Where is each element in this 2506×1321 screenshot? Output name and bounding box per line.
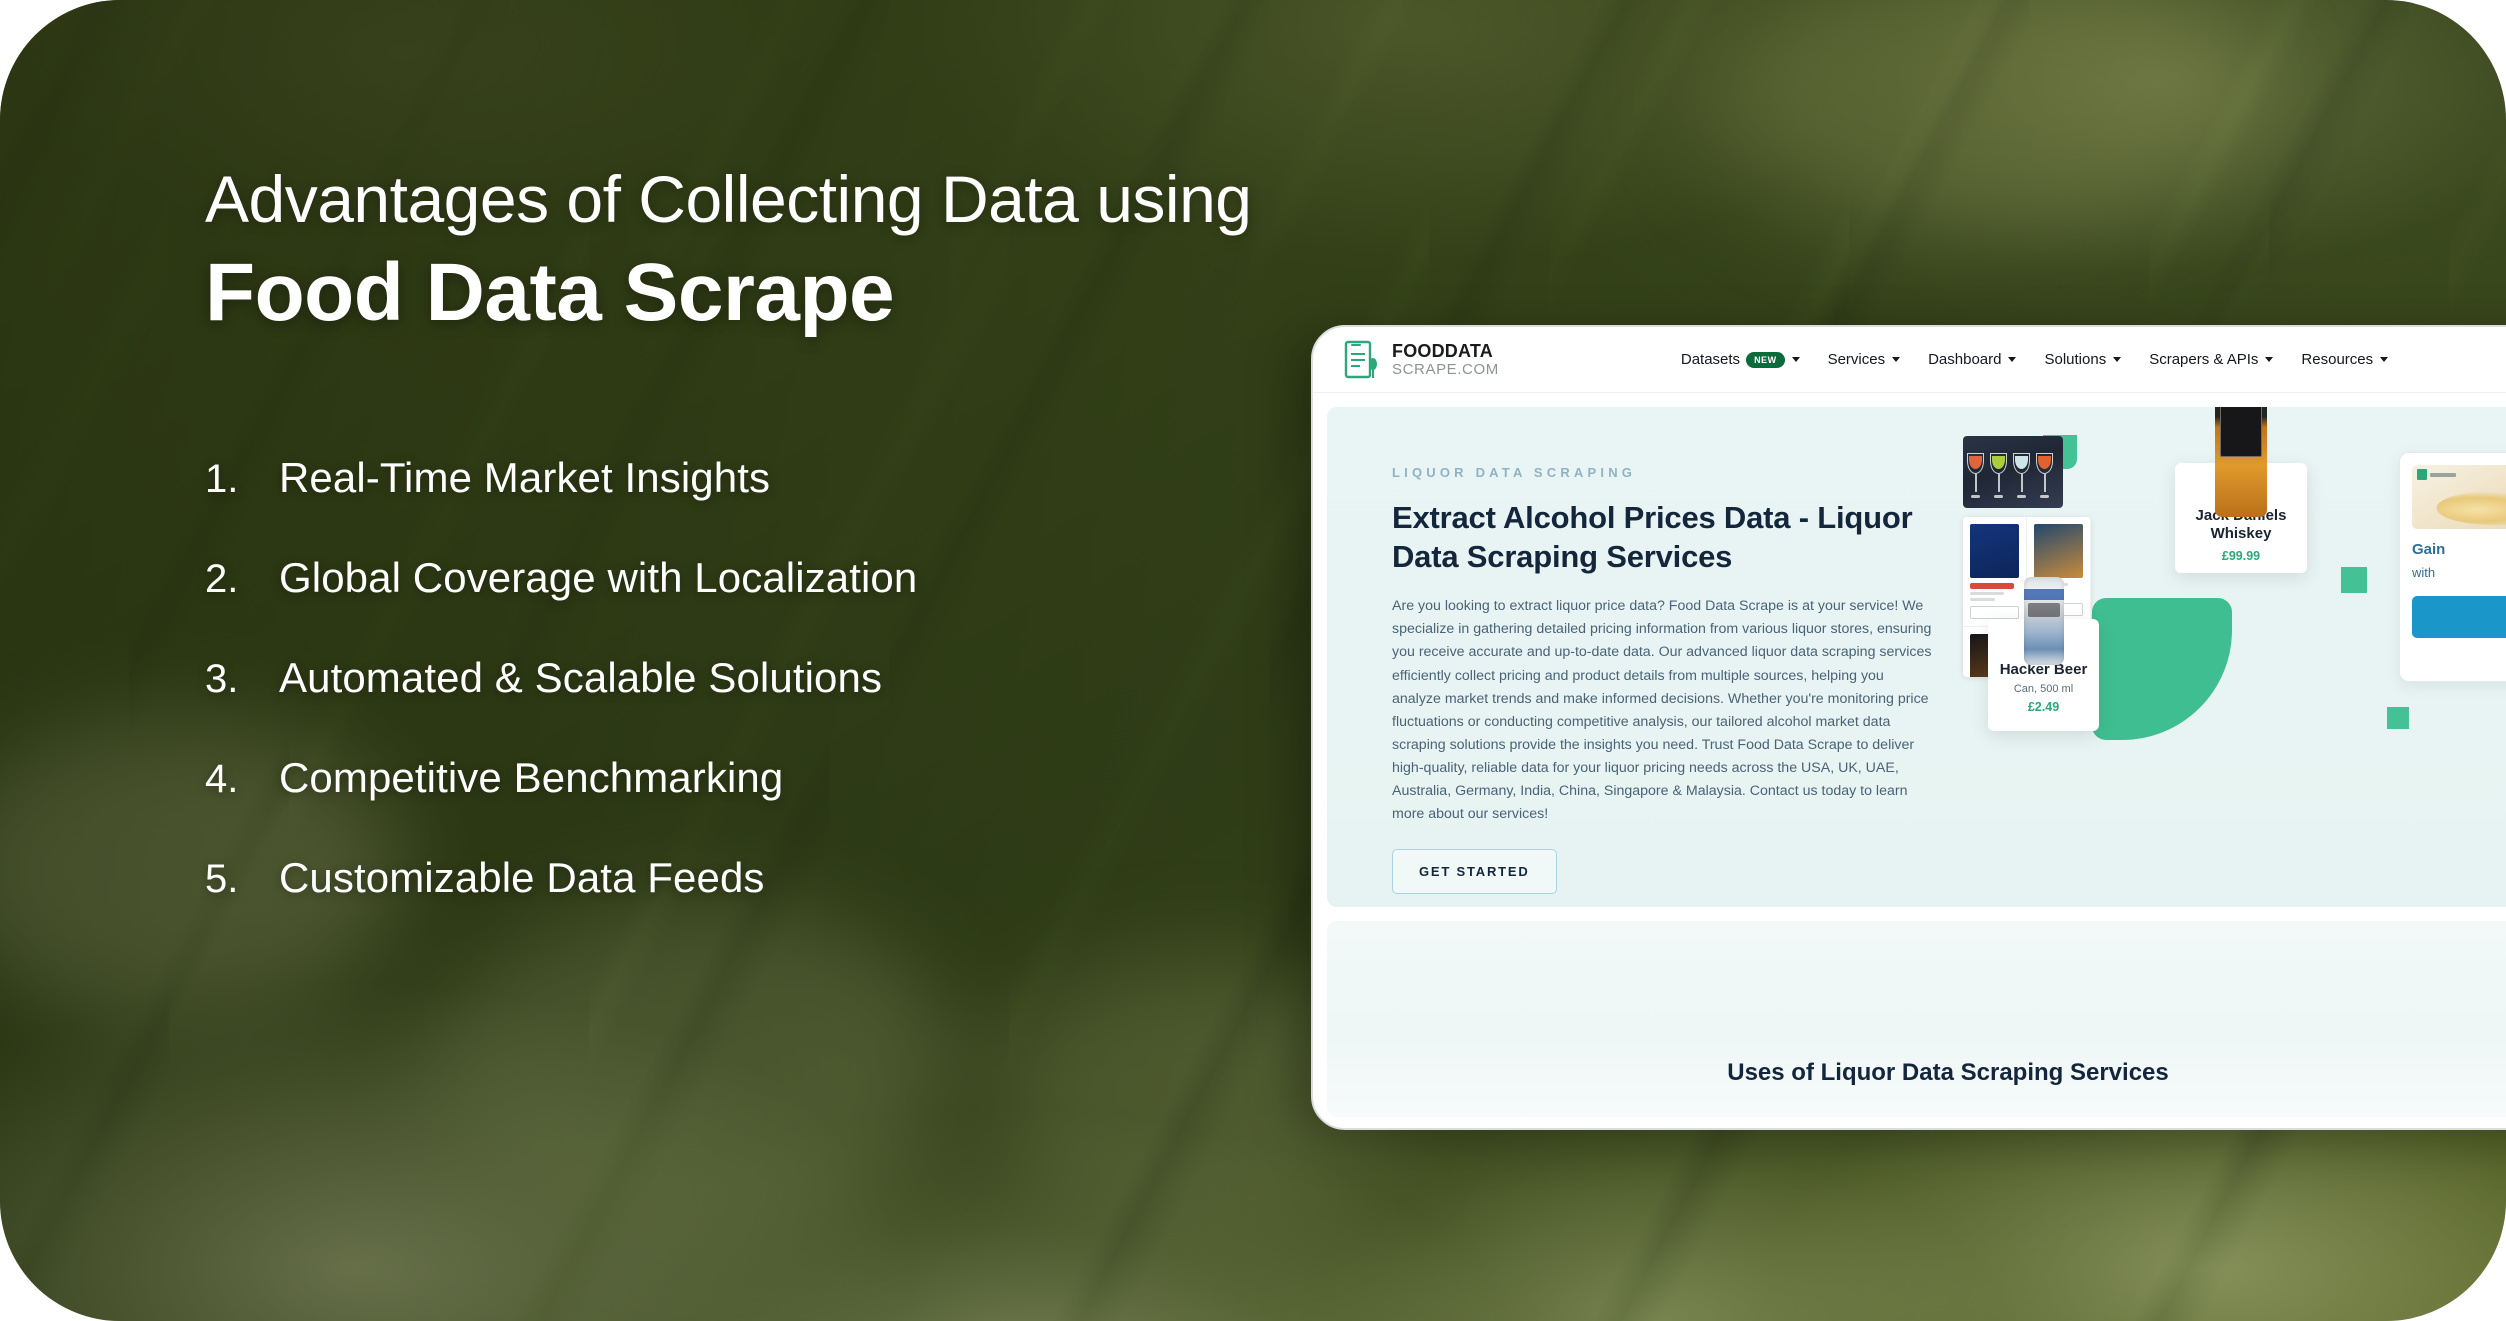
cocktail-glass-icon [2036, 453, 2053, 498]
hero-heading: Extract Alcohol Prices Data - Liquor Dat… [1392, 498, 1937, 576]
nav-item-dashboard[interactable]: Dashboard [1928, 351, 2016, 368]
list-item: 5. Customizable Data Feeds [205, 854, 1315, 902]
promo-bar [1970, 583, 2014, 589]
new-badge: NEW [1746, 352, 1785, 368]
decorative-square [2387, 707, 2409, 729]
nav-item-services[interactable]: Services [1828, 351, 1901, 368]
chevron-down-icon [2113, 357, 2121, 362]
logo-line2: SCRAPE.COM [1392, 362, 1499, 377]
chevron-down-icon [2008, 357, 2016, 362]
beer-can-image [2024, 577, 2064, 665]
site-logo[interactable]: FOODDATA SCRAPE.COM [1343, 340, 1499, 380]
product-thumbnail [2034, 524, 2083, 578]
product-card-whiskey[interactable]: Jack Daniels Whiskey £99.99 [2175, 463, 2307, 573]
list-item-label: Real-Time Market Insights [279, 454, 770, 502]
product-thumbnail [1970, 524, 2019, 578]
cocktail-photo [1963, 436, 2063, 508]
list-item: 4. Competitive Benchmarking [205, 754, 1315, 802]
advantages-list: 1. Real-Time Market Insights 2. Global C… [205, 454, 1315, 902]
promo-cta-button[interactable] [2412, 596, 2506, 638]
hero-eyebrow: LIQUOR DATA SCRAPING [1392, 465, 1937, 480]
slide-root: Advantages of Collecting Data using Food… [0, 0, 2506, 1321]
left-content-column: Advantages of Collecting Data using Food… [205, 165, 1315, 902]
promo-logo [2417, 469, 2456, 480]
website-mockup: FOODDATA SCRAPE.COM Datasets NEW Service… [1311, 325, 2506, 1130]
cocktail-glass-icon [2013, 453, 2030, 498]
list-item-label: Global Coverage with Localization [279, 554, 917, 602]
document-spoon-icon [1343, 340, 1381, 380]
nav-item-label: Scrapers & APIs [2149, 351, 2258, 368]
product-grid-cell [1963, 517, 2027, 627]
hero-text-block: LIQUOR DATA SCRAPING Extract Alcohol Pri… [1392, 465, 1937, 894]
product-subtitle: Can, 500 ml [1996, 683, 2091, 695]
list-item-number: 1. [205, 457, 279, 502]
nav-item-label: Dashboard [1928, 351, 2001, 368]
nav-item-scrapers-and-apis[interactable]: Scrapers & APIs [2149, 351, 2273, 368]
list-item-number: 2. [205, 557, 279, 602]
text-line [1970, 598, 1995, 601]
logo-line1: FOODDATA [1392, 342, 1499, 360]
hero-artwork: Jack Daniels Whiskey £99.99 Hacker Beer … [1959, 407, 2506, 907]
nav-item-label: Services [1828, 351, 1886, 368]
get-started-button[interactable]: GET STARTED [1392, 849, 1557, 894]
nav-menu: Datasets NEW Services Dashboard Solution… [1681, 351, 2388, 368]
logo-wordmark [2430, 473, 2456, 477]
nav-item-datasets[interactable]: Datasets NEW [1681, 351, 1800, 368]
food-photo [2437, 491, 2506, 525]
nav-item-label: Resources [2301, 351, 2373, 368]
list-item-label: Customizable Data Feeds [279, 854, 765, 902]
promo-line1: Gain [2412, 541, 2506, 558]
uses-section-heading: Uses of Liquor Data Scraping Services [1327, 1059, 2506, 1087]
side-promo-card[interactable]: Gain with [2399, 452, 2506, 682]
promo-line2: with [2412, 565, 2506, 580]
decorative-square [2341, 567, 2367, 593]
list-item: 2. Global Coverage with Localization [205, 554, 1315, 602]
list-item: 3. Automated & Scalable Solutions [205, 654, 1315, 702]
nav-item-solutions[interactable]: Solutions [2044, 351, 2121, 368]
list-item-number: 4. [205, 757, 279, 802]
add-to-cart-button[interactable] [1970, 606, 2019, 619]
list-item: 1. Real-Time Market Insights [205, 454, 1315, 502]
cocktail-glass-icon [1990, 453, 2007, 498]
nav-item-label: Solutions [2044, 351, 2106, 368]
product-price: £2.49 [1996, 700, 2091, 714]
hero-paragraph: Are you looking to extract liquor price … [1392, 595, 1932, 826]
product-price: £99.99 [2185, 549, 2297, 563]
product-card-beer[interactable]: Hacker Beer Can, 500 ml £2.49 [1988, 619, 2099, 731]
chevron-down-icon [1792, 357, 1800, 362]
text-line [1970, 592, 2004, 595]
chevron-down-icon [2265, 357, 2273, 362]
site-navbar: FOODDATA SCRAPE.COM Datasets NEW Service… [1313, 327, 2506, 393]
list-item-label: Competitive Benchmarking [279, 754, 783, 802]
chevron-down-icon [2380, 357, 2388, 362]
chevron-down-icon [1892, 357, 1900, 362]
cocktail-glass-icon [1967, 453, 1984, 498]
uses-section: Uses of Liquor Data Scraping Services [1327, 921, 2506, 1117]
list-item-number: 5. [205, 857, 279, 902]
hero-section: LIQUOR DATA SCRAPING Extract Alcohol Pri… [1327, 407, 2506, 907]
promo-thumbnail [2412, 465, 2506, 529]
whiskey-bottle-image [2215, 407, 2267, 517]
logo-text: FOODDATA SCRAPE.COM [1392, 342, 1499, 377]
nav-item-label: Datasets [1681, 351, 1740, 368]
list-item-label: Automated & Scalable Solutions [279, 654, 882, 702]
logo-mark-icon [2417, 469, 2427, 480]
page-title-line1: Advantages of Collecting Data using [205, 165, 1315, 235]
decorative-big-shape [2092, 598, 2232, 740]
list-item-number: 3. [205, 657, 279, 702]
nav-item-resources[interactable]: Resources [2301, 351, 2388, 368]
page-title-line2: Food Data Scrape [205, 249, 1315, 338]
